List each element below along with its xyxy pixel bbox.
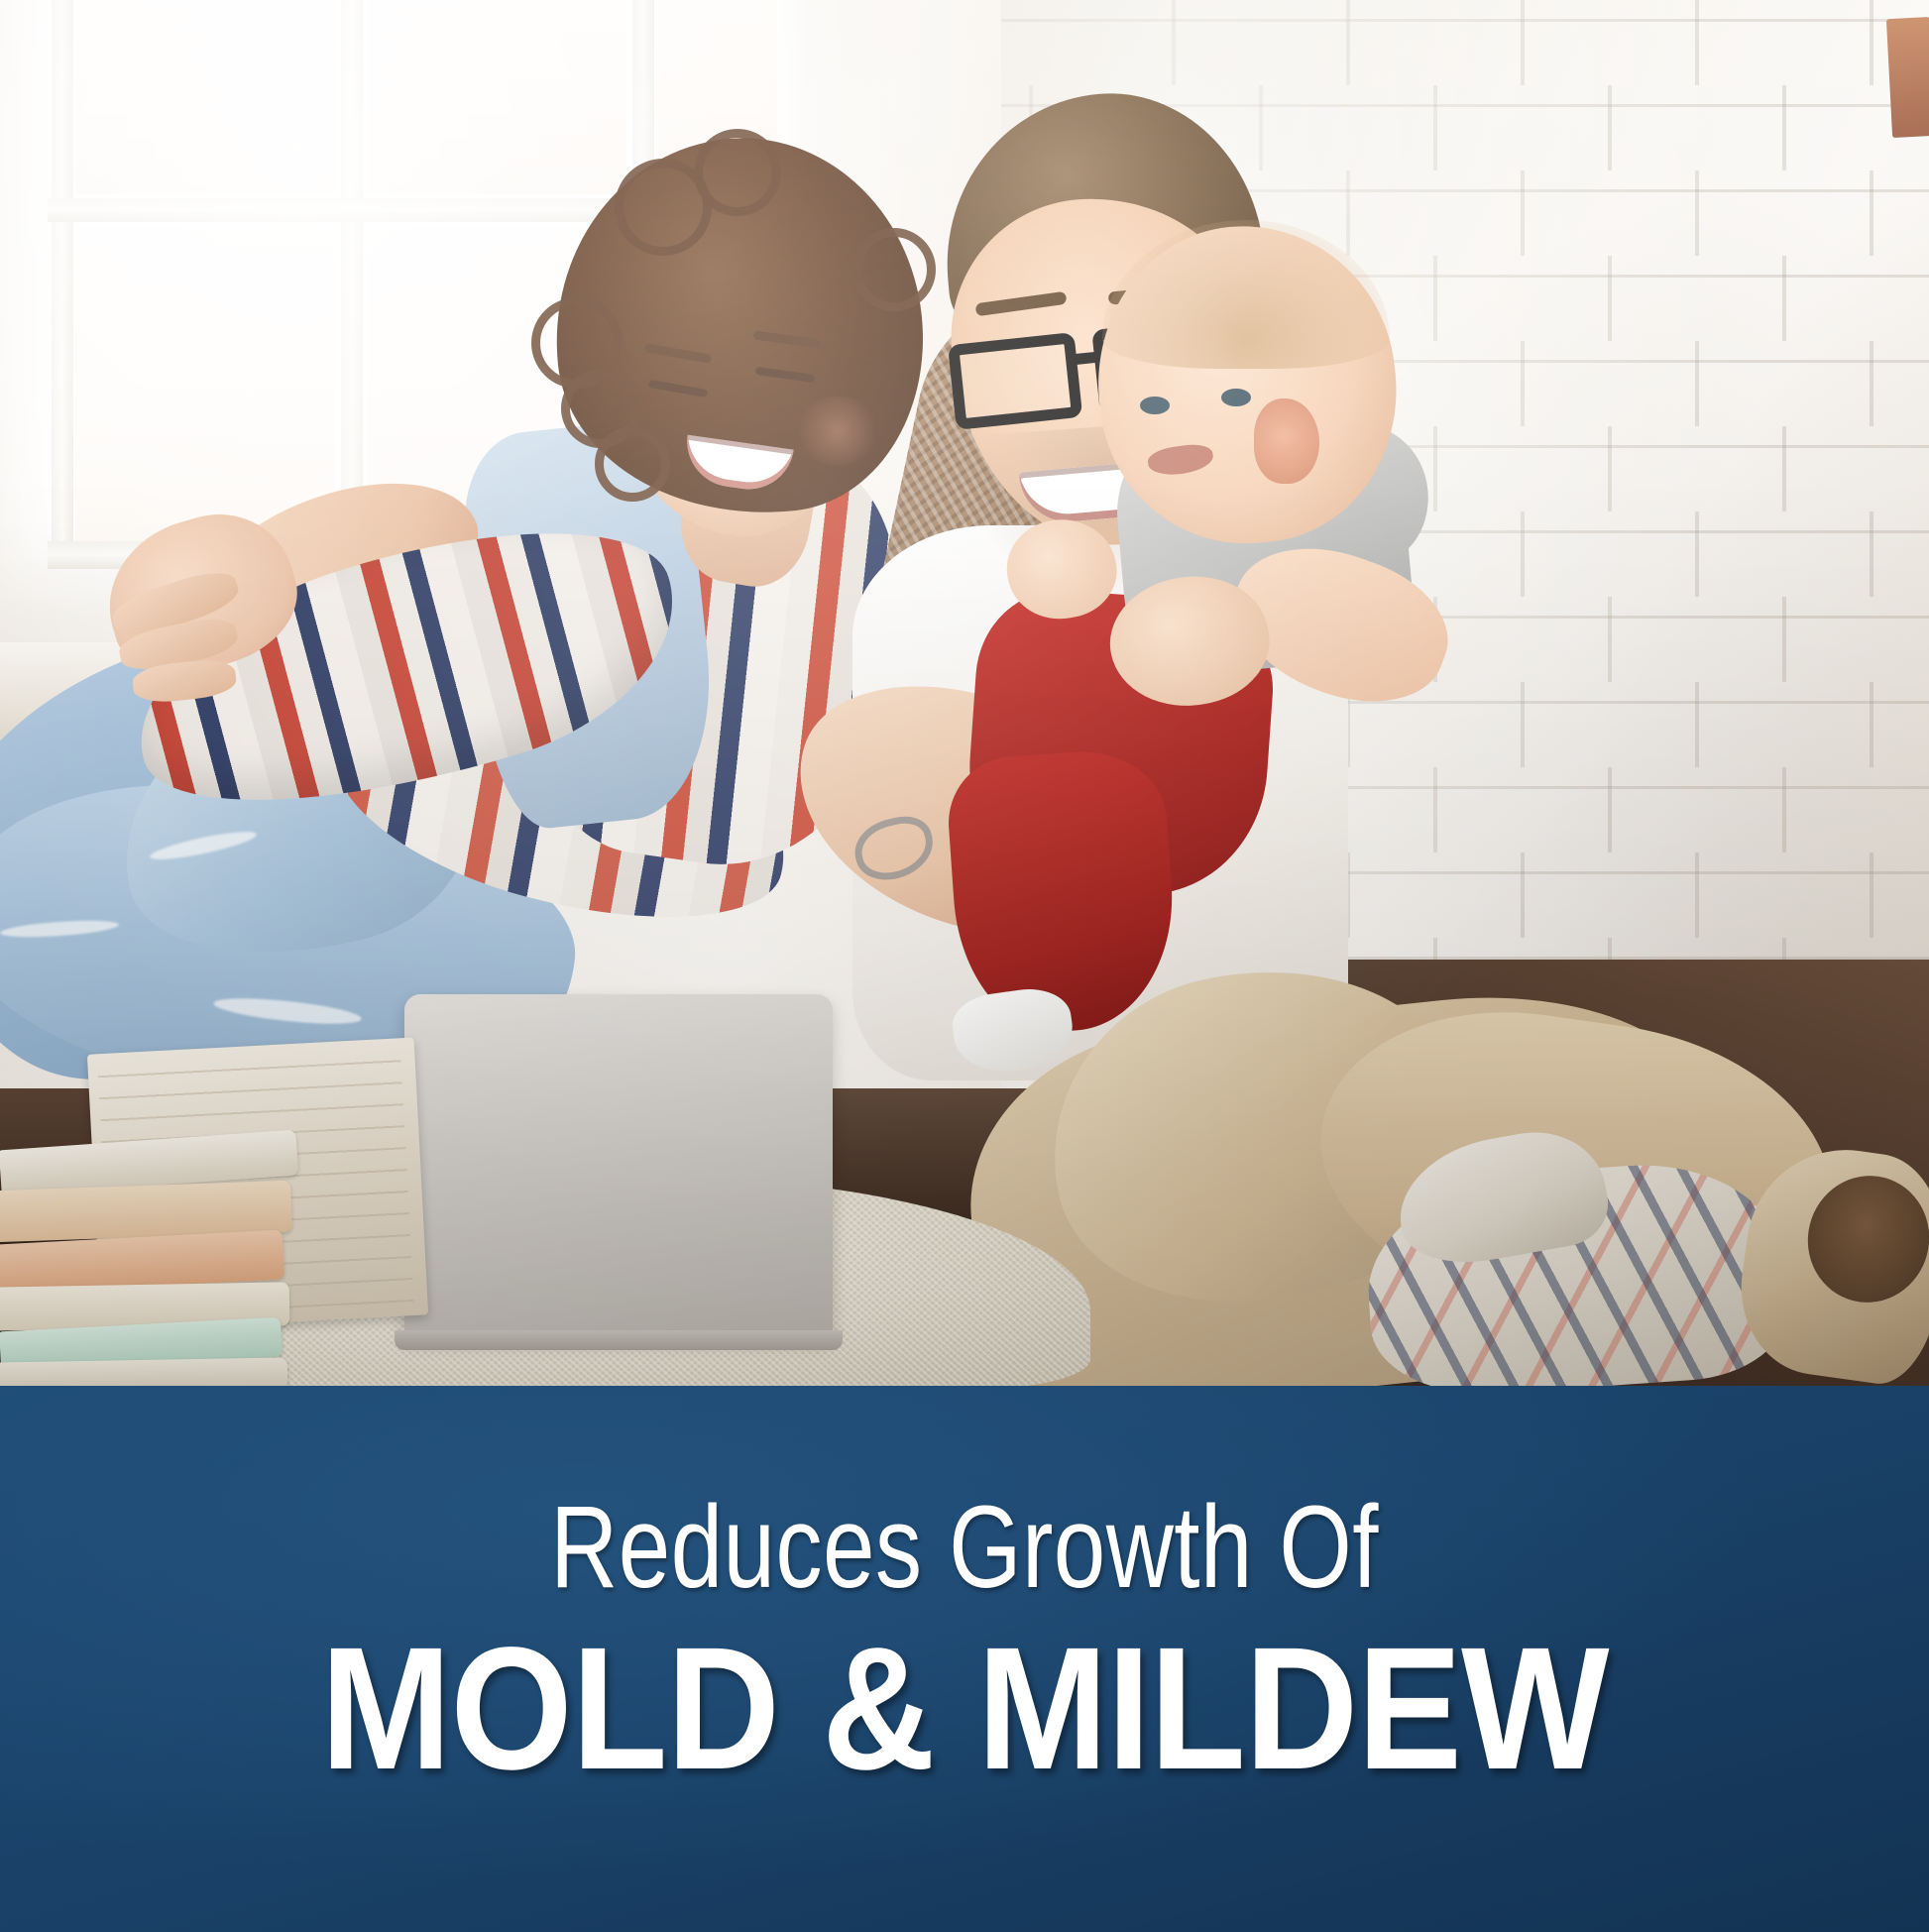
laptop-base	[395, 1330, 843, 1350]
laptop	[404, 994, 833, 1339]
banner-kicker-text: Reduces Growth Of	[193, 1489, 1737, 1606]
product-ad-card: Reduces Growth Of MOLD & MILDEW	[0, 0, 1929, 1932]
product-claim-banner: Reduces Growth Of MOLD & MILDEW	[0, 1386, 1929, 1932]
banner-headline-text: MOLD & MILDEW	[96, 1622, 1832, 1796]
lifestyle-photo	[0, 0, 1929, 1386]
